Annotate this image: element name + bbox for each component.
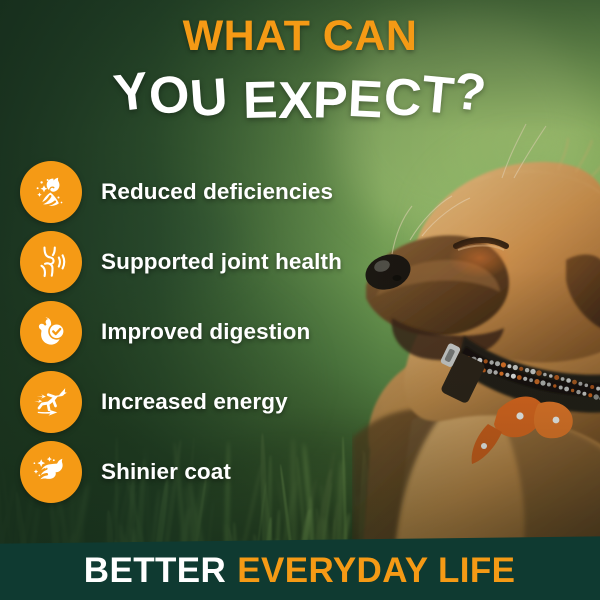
benefit-label: Increased energy [101, 389, 288, 415]
bottom-banner-content: BETTER EVERYDAY LIFE [0, 540, 600, 600]
benefit-label: Supported joint health [101, 249, 342, 275]
promo-poster: WHAT CAN YOU EXPECT? [0, 0, 600, 600]
stomach-check-icon [31, 312, 71, 352]
running-dog-arrow-icon [31, 382, 71, 422]
benefit-row-improved-digestion: Improved digestion [20, 297, 342, 367]
benefit-row-reduced-deficiencies: Reduced deficiencies [20, 157, 342, 227]
dog-head-sparkle-icon [31, 172, 71, 212]
headline-line-1: WHAT CAN [0, 14, 600, 58]
knee-joint-icon [31, 242, 71, 282]
benefit-icon-badge [20, 161, 82, 223]
benefit-row-shinier-coat: Shinier coat [20, 437, 342, 507]
headline-line-2: YOU EXPECT? [0, 60, 600, 118]
banner-word-better: BETTER [84, 551, 226, 591]
benefit-icon-badge [20, 441, 82, 503]
benefit-icon-badge [20, 301, 82, 363]
benefit-label: Reduced deficiencies [101, 179, 333, 205]
benefit-icon-badge [20, 231, 82, 293]
benefit-row-supported-joint-health: Supported joint health [20, 227, 342, 297]
benefit-row-increased-energy: Increased energy [20, 367, 342, 437]
banner-word-everyday-life: EVERYDAY LIFE [237, 551, 515, 591]
benefit-label: Improved digestion [101, 319, 310, 345]
benefit-label: Shinier coat [101, 459, 231, 485]
benefit-icon-badge [20, 371, 82, 433]
bottom-banner: BETTER EVERYDAY LIFE [0, 536, 600, 600]
benefits-list: Reduced deficiencies Supported joint hea… [20, 157, 342, 507]
headline-line-2-arc: YOU EXPECT? [0, 60, 600, 122]
dog-head-shine-icon [31, 452, 71, 492]
headline-block: WHAT CAN YOU EXPECT? [0, 14, 600, 122]
